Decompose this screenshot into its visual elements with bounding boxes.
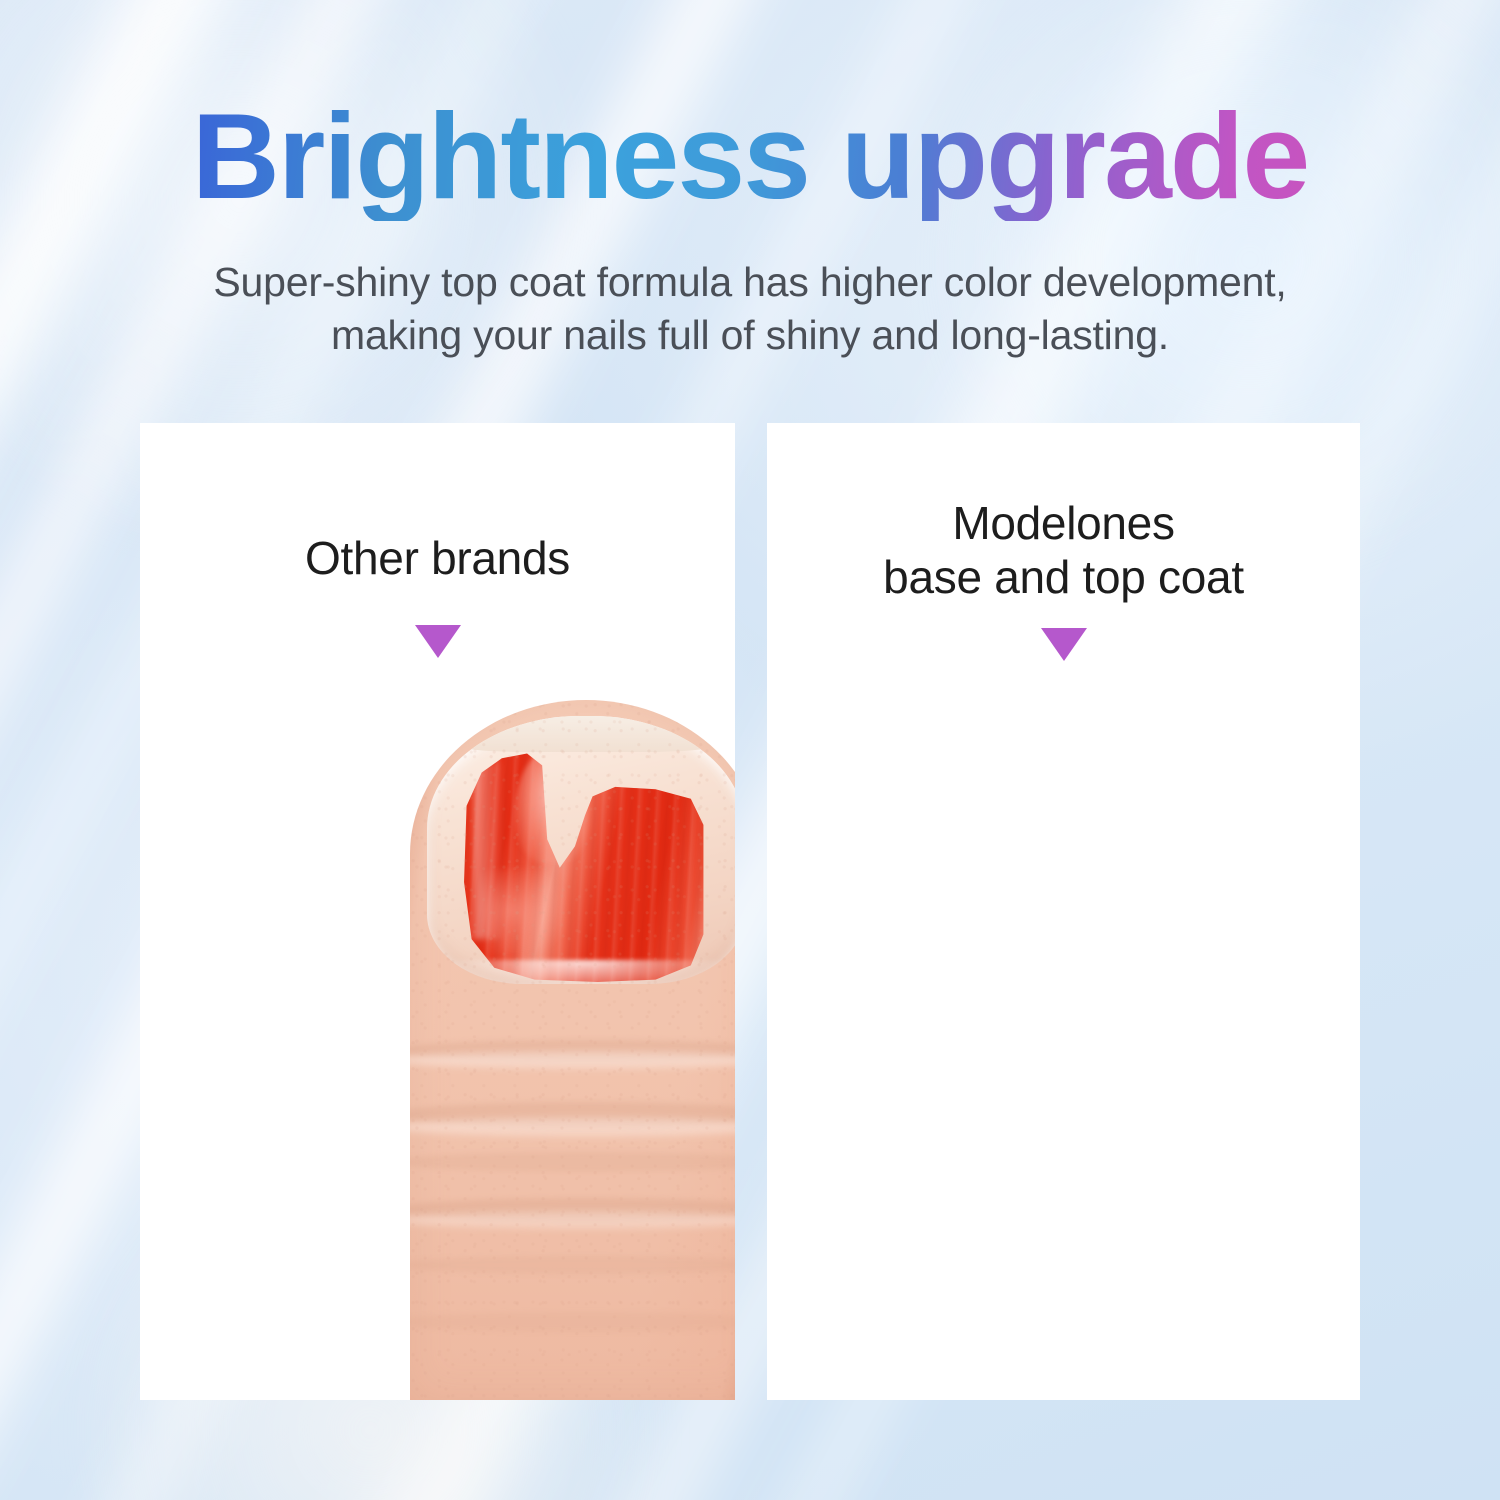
caption-line-1: Other brands <box>140 531 735 585</box>
panel-caption-left: Other brands <box>140 531 735 585</box>
comparison-panel-other-brands: Other brands <box>140 423 735 1400</box>
subtitle-line-2: making your nails full of shiny and long… <box>105 309 1395 362</box>
promo-banner: Brightness upgrade Super-shiny top coat … <box>0 0 1500 1500</box>
triangle-down-icon <box>415 625 461 658</box>
triangle-down-icon <box>1041 628 1087 661</box>
comparison-panel-modelones: Modelones base and top coat <box>767 423 1360 1400</box>
caption-line-1: Modelones <box>767 496 1360 550</box>
skin-texture <box>410 700 735 1400</box>
page-subtitle: Super-shiny top coat formula has higher … <box>105 256 1395 363</box>
page-title: Brightness upgrade <box>0 92 1500 221</box>
subtitle-line-1: Super-shiny top coat formula has higher … <box>105 256 1395 309</box>
finger-photo-other-brands <box>410 700 735 1400</box>
panel-caption-right: Modelones base and top coat <box>767 496 1360 605</box>
caption-line-2: base and top coat <box>767 550 1360 604</box>
